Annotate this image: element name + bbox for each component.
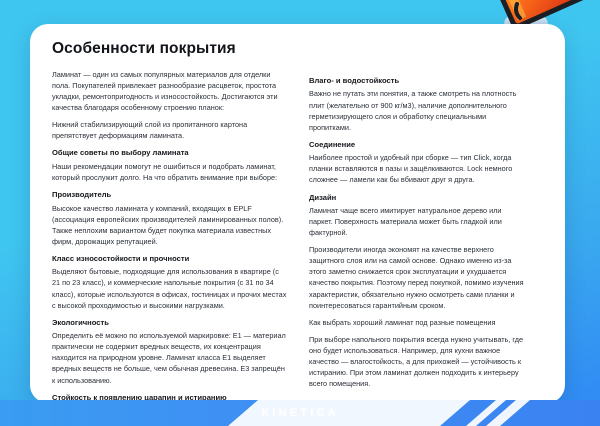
section-heading: Экологичность [52,318,287,327]
section-heading: Производитель [52,190,287,199]
section-heading: Соединение [309,140,524,149]
content-card: Особенности покрытия Ламинат — один из с… [30,24,565,403]
section-heading: Дизайн [309,193,524,202]
body-paragraph: Ламинат — один из самых популярных матер… [52,69,287,113]
section-heading: Класс износостойкости и прочности [52,254,287,263]
body-paragraph: Важно не путать эти понятия, а также смо… [309,88,524,132]
page-title: Особенности покрытия [52,40,545,58]
right-column: Влаго- и водостойкостьВажно не путать эт… [309,69,524,389]
body-paragraph: Выделяют бытовые, подходящие для использ… [52,266,287,310]
brand-logo-kinetica: KINETICA [0,400,600,426]
body-paragraph: При выборе напольного покрытия всегда ну… [309,334,524,389]
body-paragraph: Наиболее простой и удобный при сборке — … [309,152,524,185]
two-column-layout: Ламинат — один из самых популярных матер… [52,69,545,403]
body-paragraph: Определить её можно по используемой марк… [52,330,287,385]
body-paragraph: Наши рекомендации помогут не ошибиться и… [52,161,287,183]
body-paragraph: Ламинат чаще всего имитирует натуральное… [309,205,524,238]
body-paragraph: Нижний стабилизирующий слой из пропитанн… [52,119,287,141]
section-heading: Влаго- и водостойкость [309,76,524,85]
body-paragraph: Высокое качество ламината у компаний, вх… [52,203,287,247]
body-paragraph: Производители иногда экономят на качеств… [309,244,524,310]
body-paragraph: Как выбрать хороший ламинат под разные п… [309,317,524,328]
section-heading: Общие советы по выбору ламината [52,148,287,157]
left-column: Ламинат — один из самых популярных матер… [52,69,287,403]
footer-bar: KINETICA [0,400,600,426]
